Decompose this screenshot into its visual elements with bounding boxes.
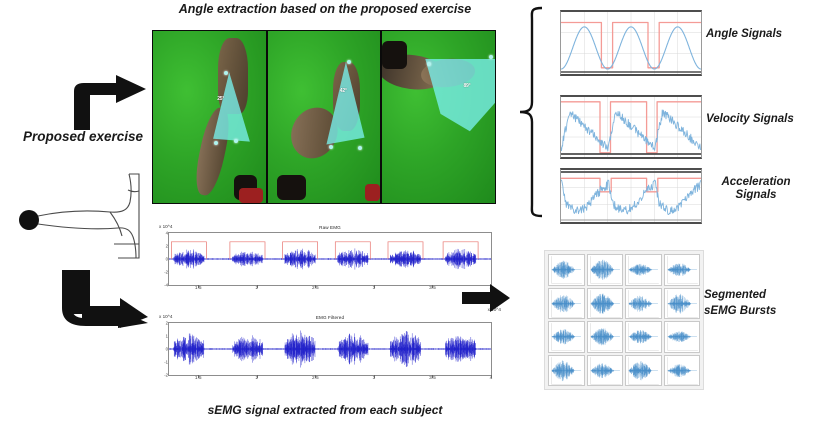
x-tick bbox=[432, 285, 433, 288]
burst-panel bbox=[587, 288, 624, 320]
raw-emg-trace bbox=[169, 233, 491, 285]
joint-marker-knee bbox=[214, 141, 218, 145]
x-tick bbox=[198, 285, 199, 288]
y-tick-label: 2 bbox=[166, 321, 168, 326]
burst-trace bbox=[549, 289, 584, 319]
emg-filtered-y-scale: x 10^4 bbox=[159, 314, 172, 319]
video-frame-2: 42° bbox=[268, 31, 383, 203]
y-tick-label: -1 bbox=[164, 360, 168, 365]
segmented-label-line2: sEMG Bursts bbox=[704, 304, 812, 320]
x-tick bbox=[374, 285, 375, 288]
angle-signals-chart bbox=[560, 10, 702, 76]
burst-panel bbox=[625, 254, 662, 286]
proposed-exercise-label: Proposed exercise bbox=[8, 130, 158, 145]
burst-trace bbox=[588, 322, 623, 352]
y-tick-label: -2 bbox=[164, 270, 168, 275]
joint-marker-hip bbox=[347, 60, 351, 64]
video-frame-3: 89° bbox=[382, 31, 495, 203]
burst-trace bbox=[665, 289, 700, 319]
acceleration-signals-chart bbox=[560, 168, 702, 224]
burst-panel bbox=[625, 321, 662, 353]
burst-panel bbox=[548, 321, 585, 353]
burst-panel bbox=[664, 321, 701, 353]
shoe-dark bbox=[382, 41, 407, 69]
burst-trace bbox=[549, 322, 584, 352]
x-tick bbox=[315, 375, 316, 378]
x-tick bbox=[257, 285, 258, 288]
curved-arrow-bottom-icon bbox=[60, 270, 150, 328]
angle-value-2: 42° bbox=[340, 88, 347, 94]
acceleration-signals-label: Acceleration Signals bbox=[706, 176, 806, 202]
burst-panel bbox=[664, 288, 701, 320]
segmented-bursts-grid bbox=[544, 250, 704, 390]
semg-caption: sEMG signal extracted from each subject bbox=[150, 403, 500, 417]
segmented-bursts-label: Segmented sEMG Bursts bbox=[704, 288, 812, 319]
burst-trace bbox=[626, 322, 661, 352]
burst-panel bbox=[625, 288, 662, 320]
curly-brace-icon bbox=[518, 6, 544, 218]
acceleration-label-line1: Acceleration bbox=[706, 176, 806, 189]
emg-filtered-chart: EMG Filtered x 10^4 x 10^4 1.522.533.54 … bbox=[168, 322, 492, 376]
y-tick-label: -2 bbox=[164, 373, 168, 378]
burst-trace bbox=[549, 255, 584, 285]
burst-trace bbox=[626, 356, 661, 386]
velocity-signals-label: Velocity Signals bbox=[706, 113, 812, 126]
y-tick-label: 0 bbox=[166, 257, 168, 262]
burst-trace bbox=[588, 255, 623, 285]
x-tick bbox=[491, 375, 492, 378]
curved-arrow-top-icon bbox=[60, 75, 150, 130]
y-tick-label: 0 bbox=[166, 347, 168, 352]
y-tick-label: 1 bbox=[166, 334, 168, 339]
angle-signals-label: Angle Signals bbox=[706, 28, 810, 41]
video-frame-1: 25° bbox=[153, 31, 268, 203]
shoe-red bbox=[239, 188, 264, 203]
joint-marker-hip bbox=[224, 71, 228, 75]
joint-marker-knee bbox=[329, 145, 333, 149]
angle-extraction-title: Angle extraction based on the proposed e… bbox=[150, 2, 500, 16]
burst-trace bbox=[549, 356, 584, 386]
emg-filtered-title: EMG Filtered bbox=[169, 315, 491, 320]
burst-panel bbox=[664, 254, 701, 286]
burst-panel bbox=[548, 355, 585, 387]
x-tick bbox=[432, 375, 433, 378]
x-tick bbox=[374, 375, 375, 378]
stick-figure-illustration bbox=[10, 170, 160, 260]
raw-emg-y-scale: x 10^4 bbox=[159, 224, 172, 229]
burst-trace bbox=[626, 289, 661, 319]
burst-trace bbox=[626, 255, 661, 285]
x-tick bbox=[257, 375, 258, 378]
burst-panel bbox=[548, 254, 585, 286]
shoe-dark bbox=[277, 175, 306, 199]
y-tick-label: 4 bbox=[166, 231, 168, 236]
burst-trace bbox=[665, 356, 700, 386]
burst-trace bbox=[665, 255, 700, 285]
emg-filtered-trace bbox=[169, 323, 491, 375]
y-tick-label: 2 bbox=[166, 244, 168, 249]
raw-emg-chart: Raw EMG x 10^4 x 10^4 1.522.533.54 420-2… bbox=[168, 232, 492, 286]
angle-value-3: 89° bbox=[463, 83, 470, 89]
burst-panel bbox=[548, 288, 585, 320]
x-tick bbox=[198, 375, 199, 378]
angle-value-1: 25° bbox=[217, 96, 224, 102]
burst-panel bbox=[587, 355, 624, 387]
burst-panel bbox=[587, 321, 624, 353]
x-tick bbox=[315, 285, 316, 288]
arrow-right-icon bbox=[462, 282, 510, 314]
velocity-signals-chart bbox=[560, 95, 702, 159]
burst-trace bbox=[588, 289, 623, 319]
acceleration-label-line2: Signals bbox=[706, 189, 806, 202]
video-frame-strip: 25° 42° 89° bbox=[152, 30, 496, 204]
burst-trace bbox=[588, 356, 623, 386]
shoe-red bbox=[365, 184, 381, 201]
burst-panel bbox=[587, 254, 624, 286]
y-tick-label: -4 bbox=[164, 283, 168, 288]
burst-panel bbox=[625, 355, 662, 387]
raw-emg-title: Raw EMG bbox=[169, 225, 491, 230]
burst-trace bbox=[665, 322, 700, 352]
segmented-label-line1: Segmented bbox=[704, 288, 812, 304]
burst-panel bbox=[664, 355, 701, 387]
